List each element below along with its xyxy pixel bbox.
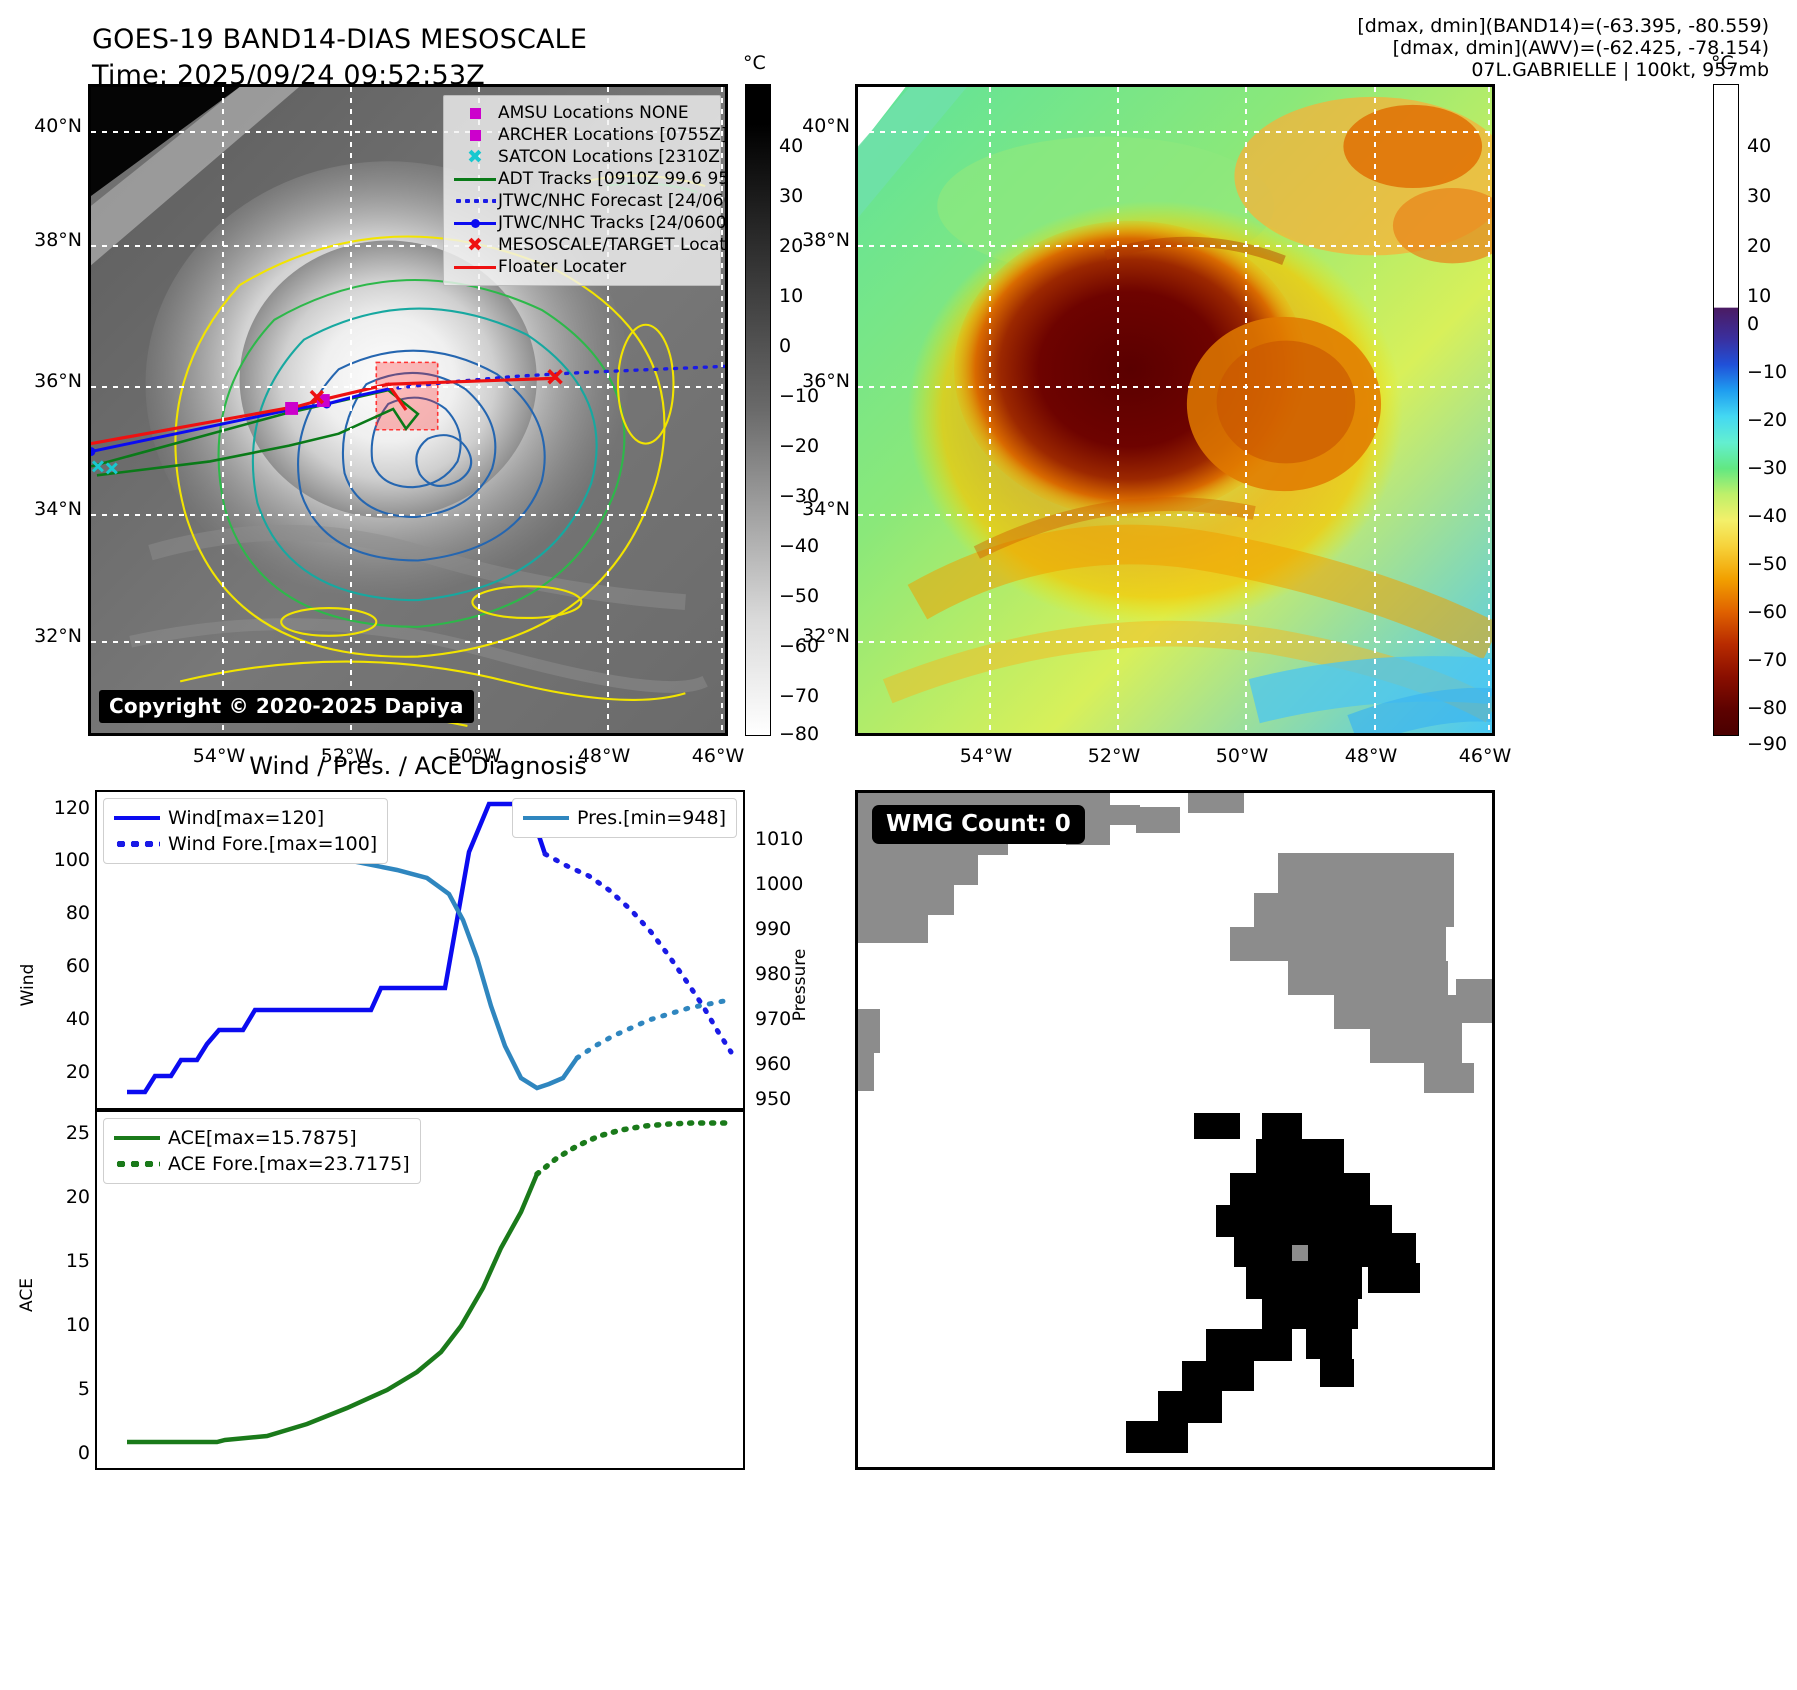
legend-item-mesoscale-target: ✖ MESOSCALE/TARGET Location: [452, 234, 712, 256]
wind-ytick: 100: [12, 849, 90, 871]
tr-ytick-34n: 34°N: [772, 498, 850, 520]
legend-label: ARCHER Locations [0755Z]: [498, 125, 728, 145]
legend-item-ace: ACE[max=15.7875]: [114, 1125, 410, 1151]
blue-line-icon: [114, 816, 168, 820]
wmg-count-badge: WMG Count: 0: [872, 805, 1085, 844]
tr-xtick-50w: 50°W: [1197, 745, 1287, 767]
gridline-lat-34: [858, 514, 1492, 516]
dashboard-root: GOES-19 BAND14-DIAS MESOSCALE Time: 2025…: [0, 0, 1797, 1690]
tr-cb-tick: −30: [1747, 457, 1787, 479]
red-line-icon: [452, 266, 498, 269]
wind-ytick: 60: [12, 955, 90, 977]
tr-cb-tick: 20: [1747, 235, 1771, 257]
tr-cb-tick: −90: [1747, 733, 1787, 755]
tr-cb-tick: −50: [1747, 553, 1787, 575]
gridline-lon-52: [1117, 87, 1119, 733]
ace-axis-label: ACE: [17, 1270, 37, 1320]
legend-item-adt-tracks: ADT Tracks [0910Z 99.6 954.7]: [452, 168, 712, 190]
pressure-legend[interactable]: Pres.[min=948]: [512, 798, 737, 838]
ace-ytick: 25: [12, 1122, 90, 1144]
gridline-lon-48: [1374, 87, 1376, 733]
tr-cb-tick-zero: 0: [1747, 313, 1759, 335]
legend-label: SATCON Locations [2310Z 114 953]: [498, 147, 728, 167]
blue-dotted-line-icon: [452, 199, 498, 203]
teal-line-icon: [523, 816, 577, 820]
legend-label: Pres.[min=948]: [577, 807, 726, 829]
gridline-lat-32: [91, 641, 725, 643]
pres-ytick: 960: [755, 1053, 791, 1075]
legend-item-jtwc-tracks: JTWC/NHC Tracks [24/0600Z]: [452, 212, 712, 234]
tr-cb-tick: 30: [1747, 185, 1771, 207]
ace-ytick: 5: [12, 1378, 90, 1400]
tl-cb-tick: −40: [779, 535, 819, 557]
pres-ytick: 970: [755, 1008, 791, 1030]
tr-cb-tick: −80: [1747, 697, 1787, 719]
gridline-lat-32: [858, 641, 1492, 643]
legend-item-archer: ARCHER Locations [0755Z]: [452, 124, 712, 146]
legend-label: JTWC/NHC Tracks [24/0600Z]: [498, 213, 728, 233]
blue-dotted-line-icon: [114, 841, 168, 847]
wind-legend[interactable]: Wind[max=120] Wind Fore.[max=100]: [103, 798, 388, 864]
green-line-icon: [114, 1136, 168, 1140]
gridline-lon-54: [222, 87, 224, 733]
legend-label: AMSU Locations NONE: [498, 103, 689, 123]
pres-ytick: 1000: [755, 873, 803, 895]
tl-ytick-38n: 38°N: [4, 229, 82, 251]
band14-mesoscale-image[interactable]: AMSU Locations NONE ARCHER Locations [07…: [88, 84, 728, 736]
dmax-dmin-awv: [dmax, dmin](AWV)=(-62.425, -78.154): [1357, 38, 1769, 60]
pressure-axis-label: Pressure: [790, 945, 810, 1025]
legend-item-pressure: Pres.[min=948]: [523, 805, 726, 831]
satellite-band-title: GOES-19 BAND14-DIAS MESOSCALE: [92, 22, 587, 58]
legend-label: ACE[max=15.7875]: [168, 1127, 357, 1149]
ace-ytick: 15: [12, 1250, 90, 1272]
red-cross-icon: ✖: [452, 236, 498, 255]
tl-ytick-32n: 32°N: [4, 625, 82, 647]
legend-label: Wind Fore.[max=100]: [168, 833, 377, 855]
legend-item-ace-forecast: ACE Fore.[max=23.7175]: [114, 1151, 410, 1177]
tr-cb-tick: −60: [1747, 601, 1787, 623]
tr-cb-tick: −20: [1747, 409, 1787, 431]
pres-ytick: 1010: [755, 828, 803, 850]
tl-cb-tick: 30: [779, 185, 803, 207]
map-legend[interactable]: AMSU Locations NONE ARCHER Locations [07…: [443, 95, 721, 286]
ace-legend[interactable]: ACE[max=15.7875] ACE Fore.[max=23.7175]: [103, 1118, 421, 1184]
ace-ytick: 0: [12, 1442, 90, 1464]
pres-ytick: 950: [755, 1088, 791, 1110]
tl-colorbar-title: °C: [743, 52, 766, 74]
tl-cb-tick: 0: [779, 335, 791, 357]
blue-line-marker-icon: [452, 222, 498, 225]
tl-ytick-36n: 36°N: [4, 370, 82, 392]
wind-pressure-chart[interactable]: Wind[max=120] Wind Fore.[max=100] Pres.[…: [95, 790, 745, 1110]
tl-ytick-40n: 40°N: [4, 115, 82, 137]
legend-item-floater-locater: Floater Locater: [452, 256, 712, 278]
ace-ytick: 20: [12, 1186, 90, 1208]
legend-label: ADT Tracks [0910Z 99.6 954.7]: [498, 169, 728, 189]
legend-item-jtwc-forecast: JTWC/NHC Forecast [24/0600Z]: [452, 190, 712, 212]
dmax-dmin-band14: [dmax, dmin](BAND14)=(-63.395, -80.559): [1357, 16, 1769, 38]
wmg-mask-raster: [858, 793, 1492, 1467]
green-line-icon: [452, 178, 498, 181]
legend-item-wind-forecast: Wind Fore.[max=100]: [114, 831, 377, 857]
copyright-badge: Copyright © 2020-2025 Dapiya: [99, 690, 474, 723]
tl-cb-tick: −70: [779, 685, 819, 707]
legend-label: JTWC/NHC Forecast [24/0600Z]: [498, 191, 728, 211]
wind-ytick: 20: [12, 1061, 90, 1083]
tr-xtick-52w: 52°W: [1069, 745, 1159, 767]
wind-ytick: 80: [12, 902, 90, 924]
tl-cb-tick: −80: [779, 723, 819, 745]
tr-cb-tick: 10: [1747, 285, 1771, 307]
tl-ytick-34n: 34°N: [4, 498, 82, 520]
pres-ytick: 990: [755, 918, 791, 940]
wind-pres-ace-title: Wind / Pres. / ACE Diagnosis: [88, 752, 748, 780]
gridline-lon-54: [989, 87, 991, 733]
tl-cb-tick: 40: [779, 135, 803, 157]
gridline-lat-36: [91, 386, 725, 388]
magenta-square-icon: [452, 108, 498, 119]
wind-ytick: 40: [12, 1008, 90, 1030]
tr-ytick-32n: 32°N: [772, 625, 850, 647]
ace-chart[interactable]: ACE[max=15.7875] ACE Fore.[max=23.7175]: [95, 1110, 745, 1470]
tr-cb-tick: −40: [1747, 505, 1787, 527]
tr-cb-tick: −10: [1747, 361, 1787, 383]
tr-colorbar-title: °C: [1711, 52, 1734, 74]
tl-colorbar-gradient: [745, 84, 771, 736]
legend-item-amsu: AMSU Locations NONE: [452, 102, 712, 124]
tr-ytick-38n: 38°N: [772, 229, 850, 251]
storm-id-intensity: 07L.GABRIELLE | 100kt, 957mb: [1357, 60, 1769, 82]
legend-item-satcon: ✖ SATCON Locations [2310Z 114 953]: [452, 146, 712, 168]
gridline-lon-52: [350, 87, 352, 733]
wind-ytick: 120: [12, 797, 90, 819]
tr-ytick-36n: 36°N: [772, 370, 850, 392]
gridline-lon-46: [1488, 87, 1490, 733]
legend-label: ACE Fore.[max=23.7175]: [168, 1153, 410, 1175]
enhanced-ir-raster: [858, 87, 1492, 733]
wmg-mask-panel[interactable]: WMG Count: 0: [855, 790, 1495, 1470]
tl-cb-tick: −20: [779, 435, 819, 457]
tr-cb-tick: 40: [1747, 135, 1771, 157]
green-dotted-line-icon: [114, 1161, 168, 1167]
pres-ytick: 980: [755, 963, 791, 985]
tl-cb-tick: 10: [779, 285, 803, 307]
gridline-lat-40: [858, 131, 1492, 133]
ace-ytick: 10: [12, 1314, 90, 1336]
cyan-cross-icon: ✖: [452, 148, 498, 167]
legend-item-wind: Wind[max=120]: [114, 805, 377, 831]
tr-xtick-54w: 54°W: [941, 745, 1031, 767]
enhanced-ir-image[interactable]: [855, 84, 1495, 736]
legend-label: Floater Locater: [498, 257, 626, 277]
tl-cb-tick: −50: [779, 585, 819, 607]
tr-ytick-40n: 40°N: [772, 115, 850, 137]
magenta-square-icon: [452, 130, 498, 141]
tr-xtick-48w: 48°W: [1326, 745, 1416, 767]
storm-header: [dmax, dmin](BAND14)=(-63.395, -80.559) …: [1357, 16, 1769, 82]
gridline-lat-38: [858, 245, 1492, 247]
gridline-lon-50: [1245, 87, 1247, 733]
tr-xtick-46w: 46°W: [1440, 745, 1530, 767]
tr-cb-tick: −70: [1747, 649, 1787, 671]
tr-colorbar-gradient: [1713, 84, 1739, 736]
legend-label: Wind[max=120]: [168, 807, 324, 829]
gridline-lat-34: [91, 514, 725, 516]
legend-label: MESOSCALE/TARGET Location: [498, 235, 728, 255]
gridline-lat-36: [858, 386, 1492, 388]
